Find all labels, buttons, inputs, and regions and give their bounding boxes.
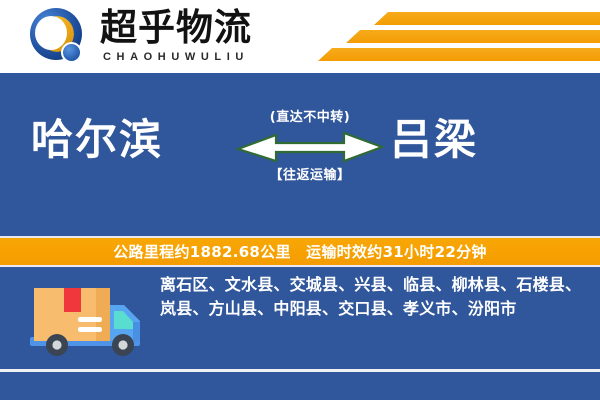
coverage-districts-text: 离石区、文水县、交城县、兴县、临县、柳林县、石楼县、岚县、方山县、中阳县、交口县…	[160, 273, 586, 322]
arrow-svg	[236, 130, 384, 164]
route-middle-group: (直达不中转) 【往返运输】	[235, 111, 385, 193]
coverage-section: 离石区、文水县、交城县、兴县、临县、柳林县、石楼县、岚县、方山县、中阳县、交口县…	[0, 267, 600, 371]
logo-dot-shape	[61, 42, 82, 63]
brand-text-block: 超乎物流 CHAOHUWULIU	[100, 9, 252, 62]
brand-name-en: CHAOHUWULIU	[103, 51, 252, 63]
distance-and-duration-text: 公路里程约1882.68公里 运输时效约31小时22分钟	[113, 241, 486, 262]
orange-speed-stripes-icon	[300, 8, 600, 68]
truck-svg	[28, 281, 146, 359]
stripe-bottom	[318, 48, 600, 61]
route-info-bar: 公路里程约1882.68公里 运输时效约31小时22分钟	[0, 236, 600, 267]
stripe-top	[374, 12, 600, 25]
brand-logo-group: 超乎物流 CHAOHUWULIU	[28, 6, 252, 66]
stripe-middle	[346, 30, 600, 43]
bidirectional-arrow-icon	[235, 130, 385, 164]
destination-city-label: 吕梁	[390, 119, 478, 161]
direct-shipping-note: (直达不中转)	[235, 111, 385, 124]
origin-city-label: 哈尔滨	[31, 119, 163, 161]
bottom-divider-line	[0, 369, 600, 372]
brand-name-cn: 超乎物流	[100, 9, 252, 47]
logo-crescent-cut-shape	[35, 16, 67, 50]
banner-header: 超乎物流 CHAOHUWULIU	[0, 0, 600, 73]
banner-body: 哈尔滨 (直达不中转) 【往返运输】 吕梁 公路里程约1882.68公里 运输时…	[0, 73, 600, 400]
route-section: 哈尔滨 (直达不中转) 【往返运输】 吕梁	[0, 73, 600, 232]
chaohu-circle-logo-icon	[28, 6, 90, 66]
logistics-route-banner: 超乎物流 CHAOHUWULIU 哈尔滨 (直达不中转) 【往返运输】	[0, 0, 600, 400]
delivery-truck-icon	[28, 281, 146, 359]
round-trip-note: 【往返运输】	[235, 169, 385, 182]
